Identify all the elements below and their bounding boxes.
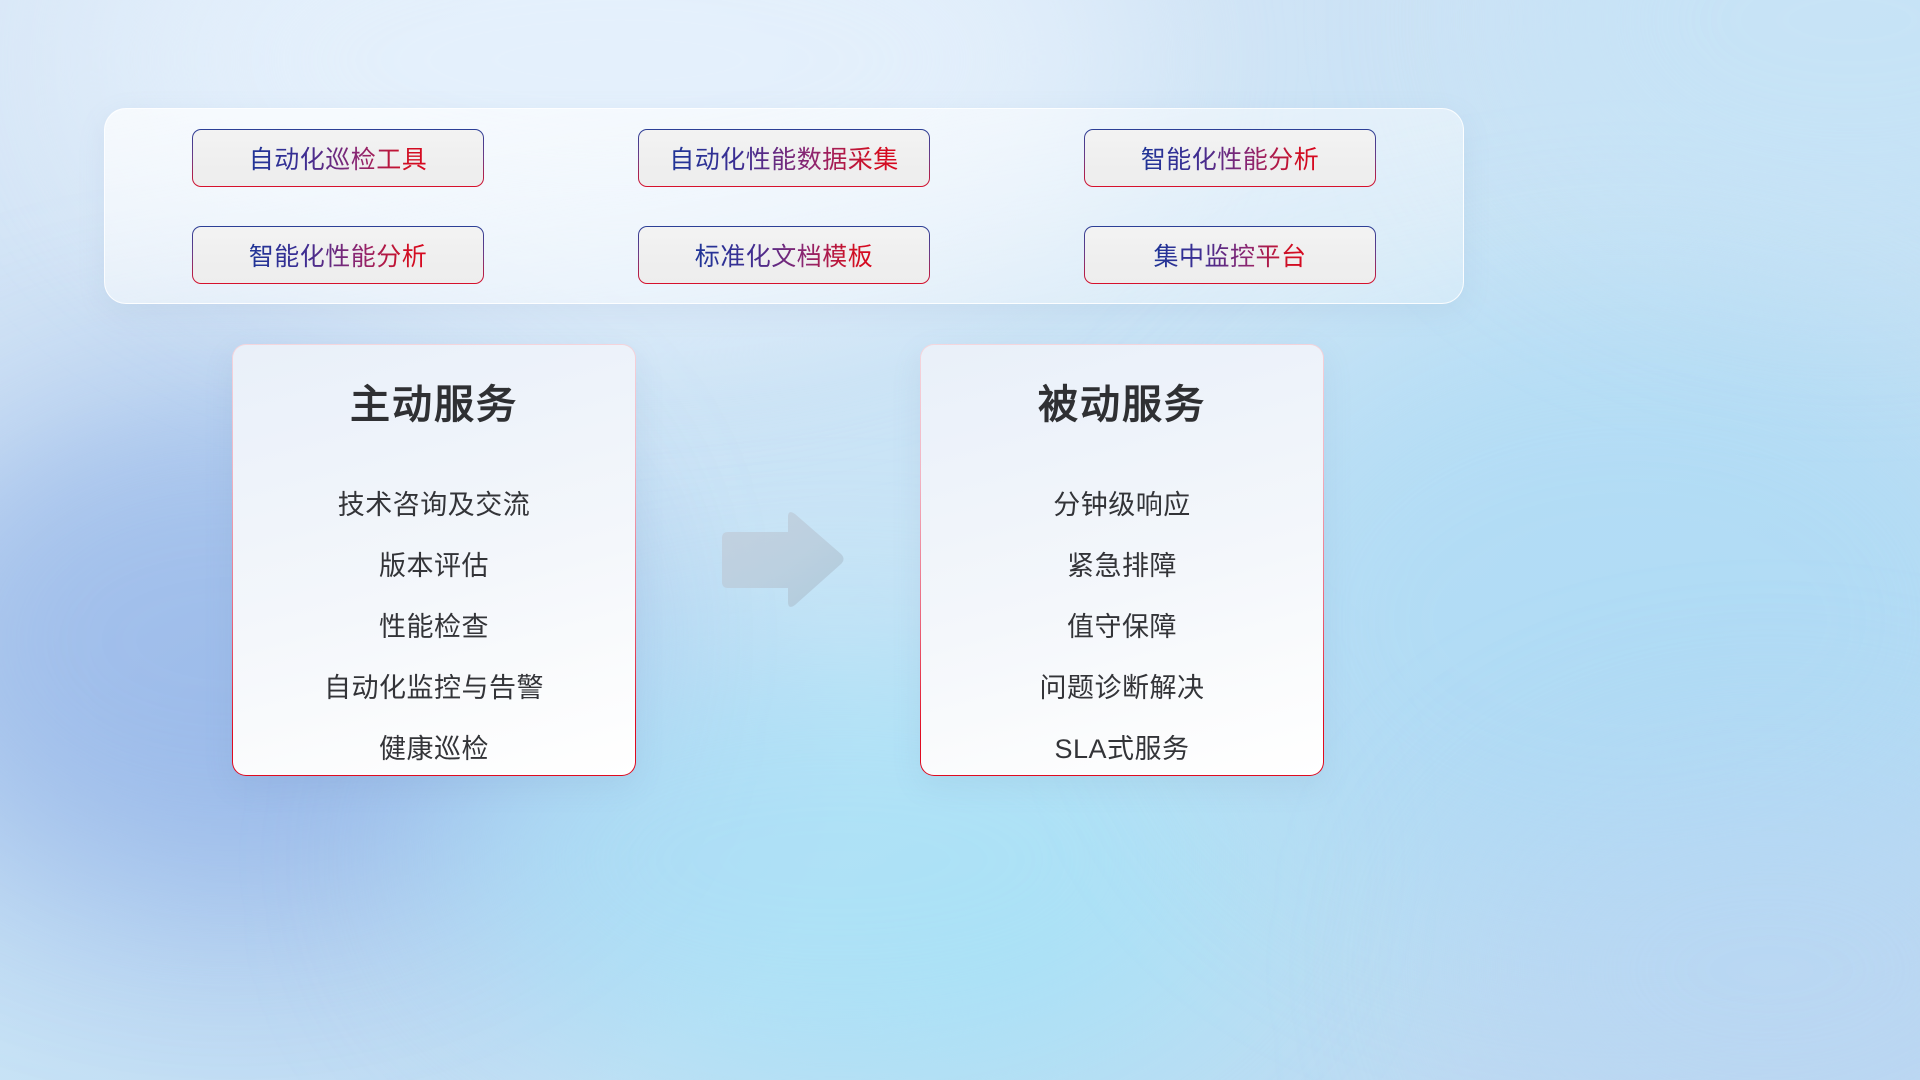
service-list-item: 自动化监控与告警: [324, 658, 544, 719]
capability-pill-label: 集中监控平台: [1153, 237, 1306, 273]
service-list-item: 性能检查: [379, 597, 489, 658]
service-list-item: 紧急排障: [1067, 536, 1177, 597]
service-item-list: 技术咨询及交流 版本评估 性能检查 自动化监控与告警 健康巡检: [233, 475, 635, 780]
service-list-item: 问题诊断解决: [1040, 658, 1205, 719]
service-card-passive: 被动服务 分钟级响应 紧急排障 值守保障 问题诊断解决 SLA式服务: [920, 344, 1324, 776]
background-blob: [1460, 760, 1920, 1080]
service-card-title: 被动服务: [1038, 385, 1206, 425]
slide-canvas: 自动化巡检工具 自动化性能数据采集 智能化性能分析 智能化性能分析 标准化文档模…: [0, 0, 1920, 1080]
capability-pill-label: 自动化巡检工具: [249, 140, 428, 176]
service-list-item: 技术咨询及交流: [338, 475, 531, 536]
service-list-item: SLA式服务: [1054, 719, 1189, 780]
capability-pill[interactable]: 自动化巡检工具: [192, 129, 484, 187]
capability-pill-label: 自动化性能数据采集: [669, 140, 899, 176]
right-arrow-icon: [718, 508, 846, 612]
capability-pill[interactable]: 智能化性能分析: [192, 226, 484, 284]
service-list-item: 分钟级响应: [1053, 475, 1191, 536]
service-card-title: 主动服务: [350, 385, 518, 425]
capability-pill[interactable]: 智能化性能分析: [1084, 129, 1376, 187]
service-list-item: 版本评估: [379, 536, 489, 597]
service-card-active: 主动服务 技术咨询及交流 版本评估 性能检查 自动化监控与告警 健康巡检: [232, 344, 636, 776]
capability-pill-label: 智能化性能分析: [1141, 140, 1320, 176]
capabilities-panel: 自动化巡检工具 自动化性能数据采集 智能化性能分析 智能化性能分析 标准化文档模…: [104, 108, 1464, 304]
capability-pill-label: 智能化性能分析: [249, 237, 428, 273]
service-list-item: 值守保障: [1067, 597, 1177, 658]
capability-pill-label: 标准化文档模板: [695, 237, 874, 273]
capability-pill[interactable]: 标准化文档模板: [638, 226, 930, 284]
service-item-list: 分钟级响应 紧急排障 值守保障 问题诊断解决 SLA式服务: [921, 475, 1323, 780]
background-blob: [1500, 0, 1920, 260]
capability-pill[interactable]: 自动化性能数据采集: [638, 129, 930, 187]
service-list-item: 健康巡检: [379, 719, 489, 780]
capability-pill[interactable]: 集中监控平台: [1084, 226, 1376, 284]
